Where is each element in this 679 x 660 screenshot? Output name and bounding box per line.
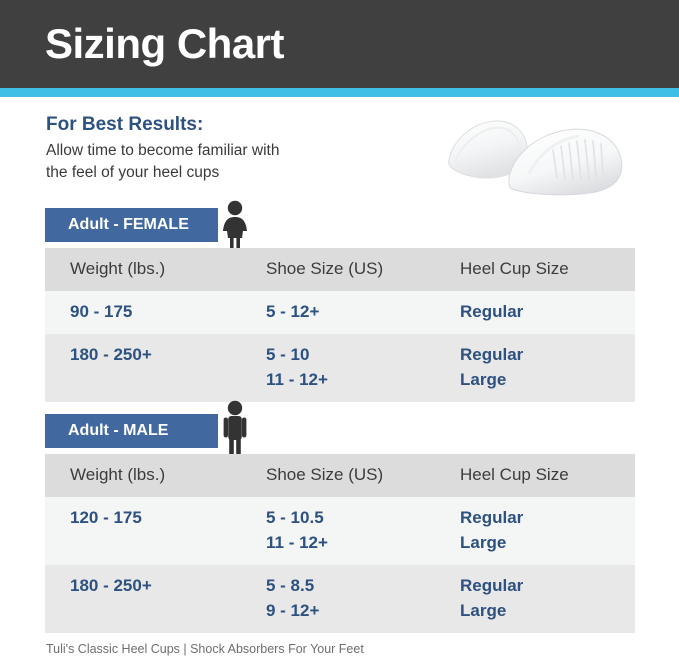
cell-heel-cup-size: Regular Large <box>435 565 635 633</box>
column-header-heel-cup-size: Heel Cup Size <box>435 248 635 291</box>
cell-heel-cup-size: Regular Large <box>435 497 635 565</box>
table-row: 180 - 250+ 5 - 10 11 - 12+ Regular Large <box>45 334 635 402</box>
cell-weight: 90 - 175 <box>45 291 241 334</box>
table-row: 120 - 175 5 - 10.5 11 - 12+ Regular Larg… <box>45 497 635 565</box>
cell-heel-cup-size: Regular <box>435 291 635 334</box>
sizing-chart-page: Sizing Chart For Best Results: Allow tim… <box>0 0 679 660</box>
cell-shoe-size: 5 - 10 11 - 12+ <box>241 334 435 402</box>
intro-block: For Best Results: Allow time to become f… <box>46 112 406 184</box>
column-header-weight: Weight (lbs.) <box>45 454 241 497</box>
cell-shoe-size: 5 - 8.5 9 - 12+ <box>241 565 435 633</box>
heel-cups-product-image <box>437 112 652 204</box>
cell-shoe-size: 5 - 12+ <box>241 291 435 334</box>
column-header-weight: Weight (lbs.) <box>45 248 241 291</box>
cell-weight: 120 - 175 <box>45 497 241 565</box>
male-silhouette-icon <box>215 400 255 454</box>
cell-weight: 180 - 250+ <box>45 334 241 402</box>
intro-line-1: Allow time to become familiar with <box>46 140 406 162</box>
section-bar-female: Adult - FEMALE <box>45 208 218 242</box>
footer-text: Tuli's Classic Heel Cups | Shock Absorbe… <box>46 641 364 657</box>
cell-weight: 180 - 250+ <box>45 565 241 633</box>
table-header-row: Weight (lbs.) Shoe Size (US) Heel Cup Si… <box>45 248 635 291</box>
section-label-male: Adult - MALE <box>68 414 168 448</box>
column-header-shoe-size: Shoe Size (US) <box>241 248 435 291</box>
accent-divider <box>0 88 679 97</box>
table-header-row: Weight (lbs.) Shoe Size (US) Heel Cup Si… <box>45 454 635 497</box>
size-table-male: Weight (lbs.) Shoe Size (US) Heel Cup Si… <box>45 454 635 633</box>
intro-line-2: the feel of your heel cups <box>46 162 406 184</box>
section-label-female: Adult - FEMALE <box>68 208 189 242</box>
cell-shoe-size: 5 - 10.5 11 - 12+ <box>241 497 435 565</box>
size-table-female: Weight (lbs.) Shoe Size (US) Heel Cup Si… <box>45 248 635 402</box>
table-row: 180 - 250+ 5 - 8.5 9 - 12+ Regular Large <box>45 565 635 633</box>
cell-heel-cup-size: Regular Large <box>435 334 635 402</box>
column-header-heel-cup-size: Heel Cup Size <box>435 454 635 497</box>
column-header-shoe-size: Shoe Size (US) <box>241 454 435 497</box>
section-bar-male: Adult - MALE <box>45 414 218 448</box>
female-silhouette-icon <box>215 200 255 248</box>
intro-heading: For Best Results: <box>46 112 406 138</box>
page-title: Sizing Chart <box>45 18 284 70</box>
table-row: 90 - 175 5 - 12+ Regular <box>45 291 635 334</box>
